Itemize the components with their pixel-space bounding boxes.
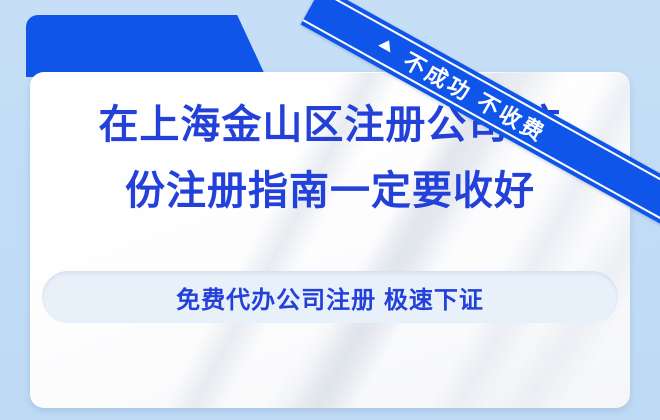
triangle-up-icon bbox=[378, 37, 395, 53]
cta-pill[interactable]: 免费代办公司注册 极速下证 bbox=[42, 271, 618, 323]
cta-pill-label: 免费代办公司注册 极速下证 bbox=[42, 271, 618, 323]
brand-tab bbox=[26, 15, 266, 77]
promo-banner: 上海壹隆 在上海金山区注册公司 这 份注册指南一定要收好 免费代办公司注册 极速… bbox=[0, 0, 660, 420]
